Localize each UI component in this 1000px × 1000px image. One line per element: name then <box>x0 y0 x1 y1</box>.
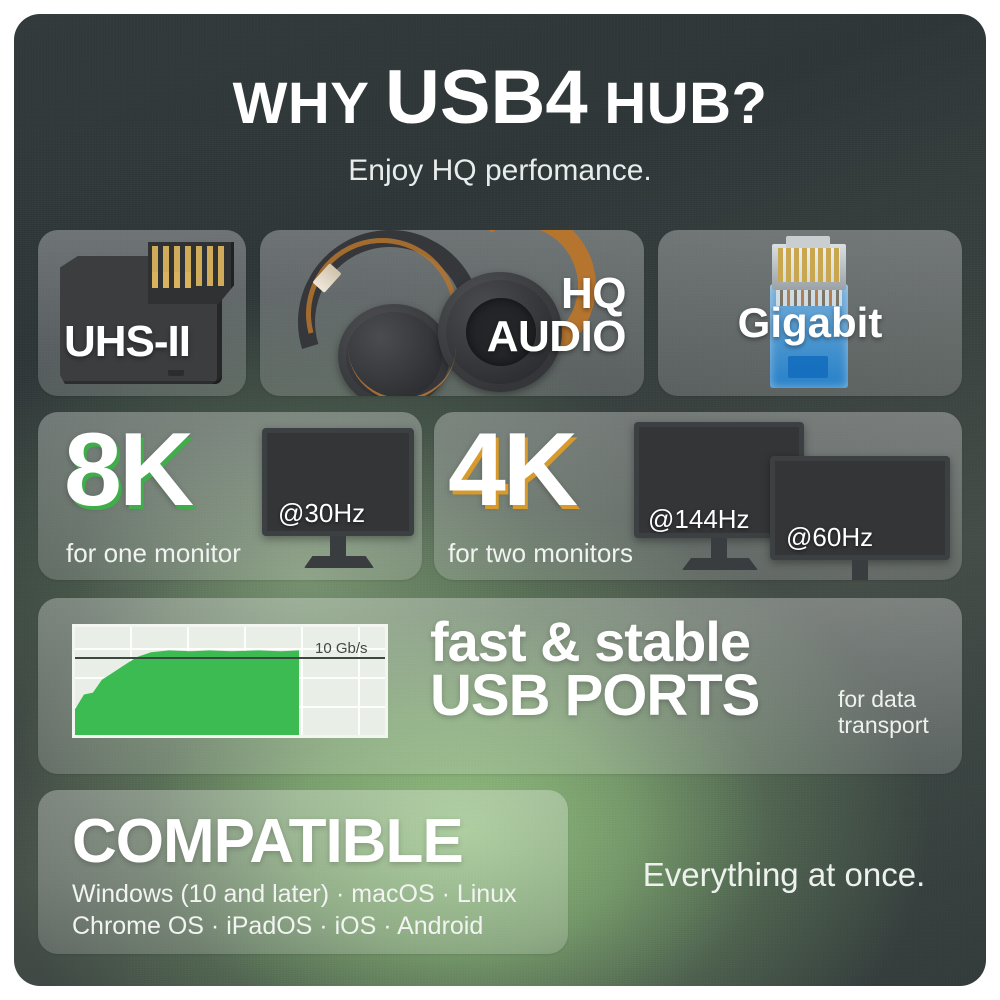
resolution-4k-label: 4K <box>448 426 575 514</box>
feature-card-uhs: UHS-II <box>38 230 246 396</box>
hq-audio-label: HQ AUDIO <box>487 272 626 358</box>
feature-card-gigabit: Gigabit <box>658 230 962 396</box>
rj45-gold-pins <box>778 248 840 282</box>
monitor-neck <box>711 538 727 560</box>
sd-card-notch <box>168 370 184 376</box>
rj45-latch <box>788 356 828 378</box>
feature-card-compatible: COMPATIBLE Windows (10 and later) · macO… <box>38 790 568 954</box>
footer-tagline: Everything at once. <box>614 856 954 894</box>
compatible-os-line2: Chrome OS · iPadOS · iOS · Android <box>72 912 483 941</box>
hq-audio-line1: HQ <box>487 272 626 315</box>
usb-ports-note-line2: transport <box>838 712 929 738</box>
title-post: HUB? <box>588 71 768 136</box>
header: WHY USB4 HUB? Enjoy HQ perfomance. <box>14 60 986 188</box>
monitor-neck <box>852 560 868 580</box>
throughput-chart: 10 Gb/s <box>72 624 388 738</box>
rj45-top-tab <box>786 236 830 248</box>
resolution-8k-caption: for one monitor <box>66 538 241 569</box>
chart-threshold-line <box>75 657 385 659</box>
feature-card-4k: 4K for two monitors @144Hz @60Hz <box>434 412 962 580</box>
uhs-label: UHS-II <box>64 320 190 363</box>
resolution-4k-caption: for two monitors <box>448 538 633 569</box>
usb-ports-heading: fast & stable USB PORTS <box>430 616 759 723</box>
usb-ports-line1: fast & stable <box>430 616 759 669</box>
compatible-heading: COMPATIBLE <box>72 806 463 877</box>
resolution-8k-label: 8K <box>64 426 191 514</box>
monitor-neck <box>330 536 346 558</box>
feature-card-audio: HQ AUDIO <box>260 230 644 396</box>
refresh-rate-144hz: @144Hz <box>648 504 750 535</box>
title-pre: WHY <box>233 71 385 136</box>
refresh-rate-30hz: @30Hz <box>278 498 365 529</box>
monitor-base <box>682 558 758 570</box>
microsd-contact-pins-row2 <box>152 272 196 288</box>
feature-card-8k: 8K for one monitor @30Hz <box>38 412 422 580</box>
poster-background: WHY USB4 HUB? Enjoy HQ perfomance. UHS-I… <box>14 14 986 986</box>
usb-ports-line2: USB PORTS <box>430 669 759 724</box>
feature-card-usb-ports: 10 Gb/s fast & stable USB PORTS for data… <box>38 598 962 774</box>
page-title: WHY USB4 HUB? <box>14 60 986 136</box>
chart-threshold-label: 10 Gb/s <box>315 640 368 657</box>
refresh-rate-60hz: @60Hz <box>786 522 873 553</box>
hq-audio-line2: AUDIO <box>487 315 626 358</box>
gigabit-label: Gigabit <box>658 302 962 343</box>
monitor-base <box>304 556 374 568</box>
sd-card-icon <box>60 242 236 390</box>
usb-ports-note: for data transport <box>838 686 929 739</box>
title-highlight: USB4 <box>385 55 588 140</box>
page-subtitle: Enjoy HQ perfomance. <box>14 154 986 188</box>
compatible-os-line1: Windows (10 and later) · macOS · Linux <box>72 880 517 909</box>
usb-ports-note-line1: for data <box>838 686 929 712</box>
monitor-icon-60hz <box>770 456 950 580</box>
